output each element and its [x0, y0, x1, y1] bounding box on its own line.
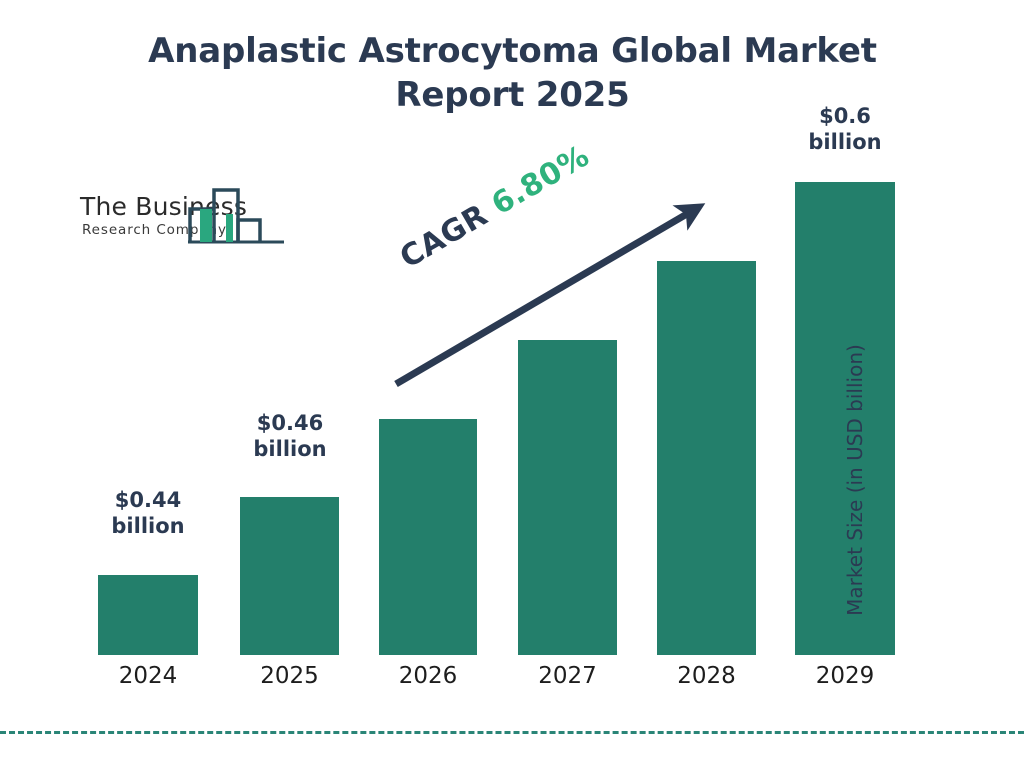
bar-value-label-2024: $0.44 billion [78, 487, 218, 540]
x-tick-label-2027: 2027 [518, 663, 617, 689]
x-tick-label-2025: 2025 [240, 663, 339, 689]
bar-value-label-2024-unit: billion [78, 513, 218, 539]
bar-2025 [240, 497, 339, 655]
bar-value-label-2025-amount: $0.46 [220, 410, 360, 436]
cagr-label: CAGR [394, 198, 494, 276]
chart-canvas: Anaplastic Astrocytoma Global Market Rep… [0, 0, 1024, 768]
bar-2027 [518, 340, 617, 655]
cagr-annotation: CAGR 6.80% [394, 138, 595, 275]
x-tick-label-2028: 2028 [657, 663, 756, 689]
bar-value-label-2029-unit: billion [775, 129, 915, 155]
x-tick-label-2024: 2024 [98, 663, 198, 689]
bar-2026 [379, 419, 477, 655]
bar-value-label-2024-amount: $0.44 [78, 487, 218, 513]
cagr-value: 6.80% [486, 138, 596, 222]
bar-2024 [98, 575, 198, 655]
company-logo: The Business Research Company [78, 178, 288, 256]
bar-value-label-2029: $0.6 billion [775, 103, 915, 156]
bar-value-label-2025: $0.46 billion [220, 410, 360, 463]
bar-value-label-2025-unit: billion [220, 436, 360, 462]
bar-chart-logo-mark-icon [186, 178, 286, 250]
y-axis-title: Market Size (in USD billion) [843, 310, 867, 650]
bar-value-label-2029-amount: $0.6 [775, 103, 915, 129]
bar-2028 [657, 261, 756, 655]
footer-divider [0, 731, 1024, 734]
x-tick-label-2026: 2026 [379, 663, 477, 689]
x-tick-label-2029: 2029 [795, 663, 895, 689]
